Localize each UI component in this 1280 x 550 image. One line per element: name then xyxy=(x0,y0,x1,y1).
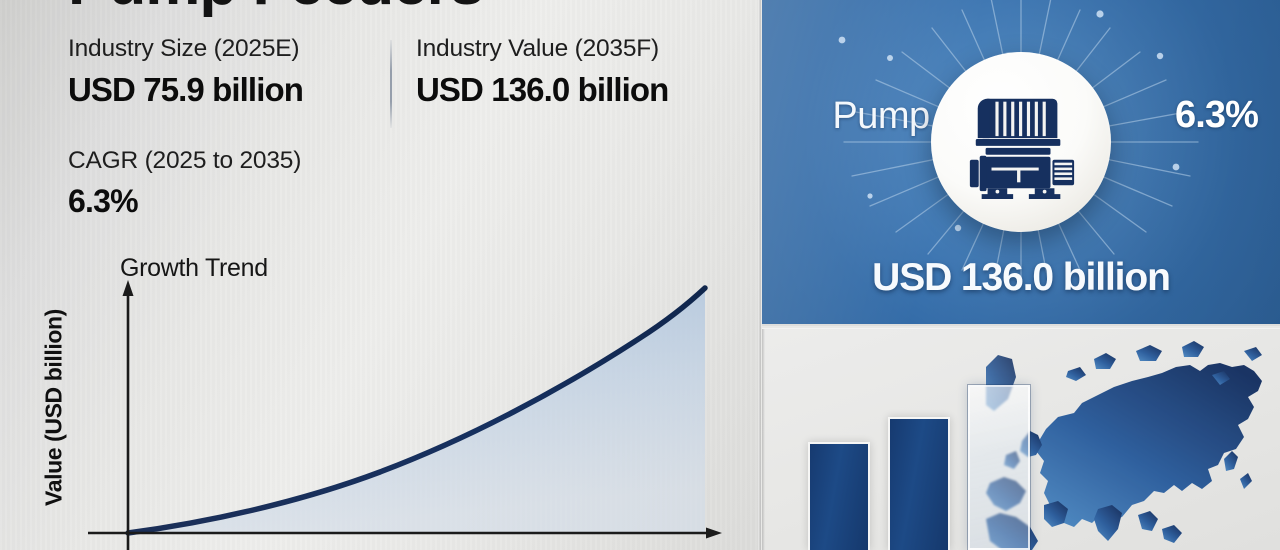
world-map-eurasia xyxy=(986,333,1280,550)
pump-badge xyxy=(931,52,1111,232)
bars-map-panel xyxy=(762,328,1280,550)
bar-3 xyxy=(968,385,1030,550)
stat-industry-size-label: Industry Size (2025E) xyxy=(68,34,303,64)
blue-panel-value: USD 136.0 billion xyxy=(762,256,1280,300)
chart-y-axis-arrow xyxy=(123,280,134,296)
stats-divider xyxy=(390,40,392,128)
stat-cagr-label: CAGR (2025 to 2035) xyxy=(68,147,301,175)
bar-1 xyxy=(808,442,870,550)
infographic-canvas: Pump Feeders Industry Size (2025E) USD 7… xyxy=(0,0,1280,550)
bar-2 xyxy=(888,417,950,550)
growth-trend-chart: Growth Trend Value (USD billion) xyxy=(0,240,761,550)
stat-cagr: CAGR (2025 to 2035) 6.3% xyxy=(68,147,301,220)
stat-industry-size-value: USD 75.9 billion xyxy=(68,70,303,110)
page-title: Pump Feeders xyxy=(68,0,483,16)
stat-industry-value-label: Industry Value (2035F) xyxy=(416,34,668,64)
chart-plot-area xyxy=(0,240,761,550)
highlight-blue-panel: Pump 6.3% xyxy=(762,0,1280,326)
stat-cagr-value: 6.3% xyxy=(68,183,301,220)
stat-industry-size: Industry Size (2025E) USD 75.9 billion xyxy=(68,34,303,110)
stat-industry-value-value: USD 136.0 billion xyxy=(416,70,668,110)
left-summary-panel: Pump Feeders Industry Size (2025E) USD 7… xyxy=(0,0,761,550)
stat-industry-value: Industry Value (2035F) USD 136.0 billion xyxy=(416,34,668,110)
chart-area-fill xyxy=(128,288,705,533)
pump-motor-icon xyxy=(962,83,1080,201)
blue-panel-right-label: 6.3% xyxy=(1175,94,1258,137)
chart-x-axis-arrow xyxy=(706,528,722,539)
